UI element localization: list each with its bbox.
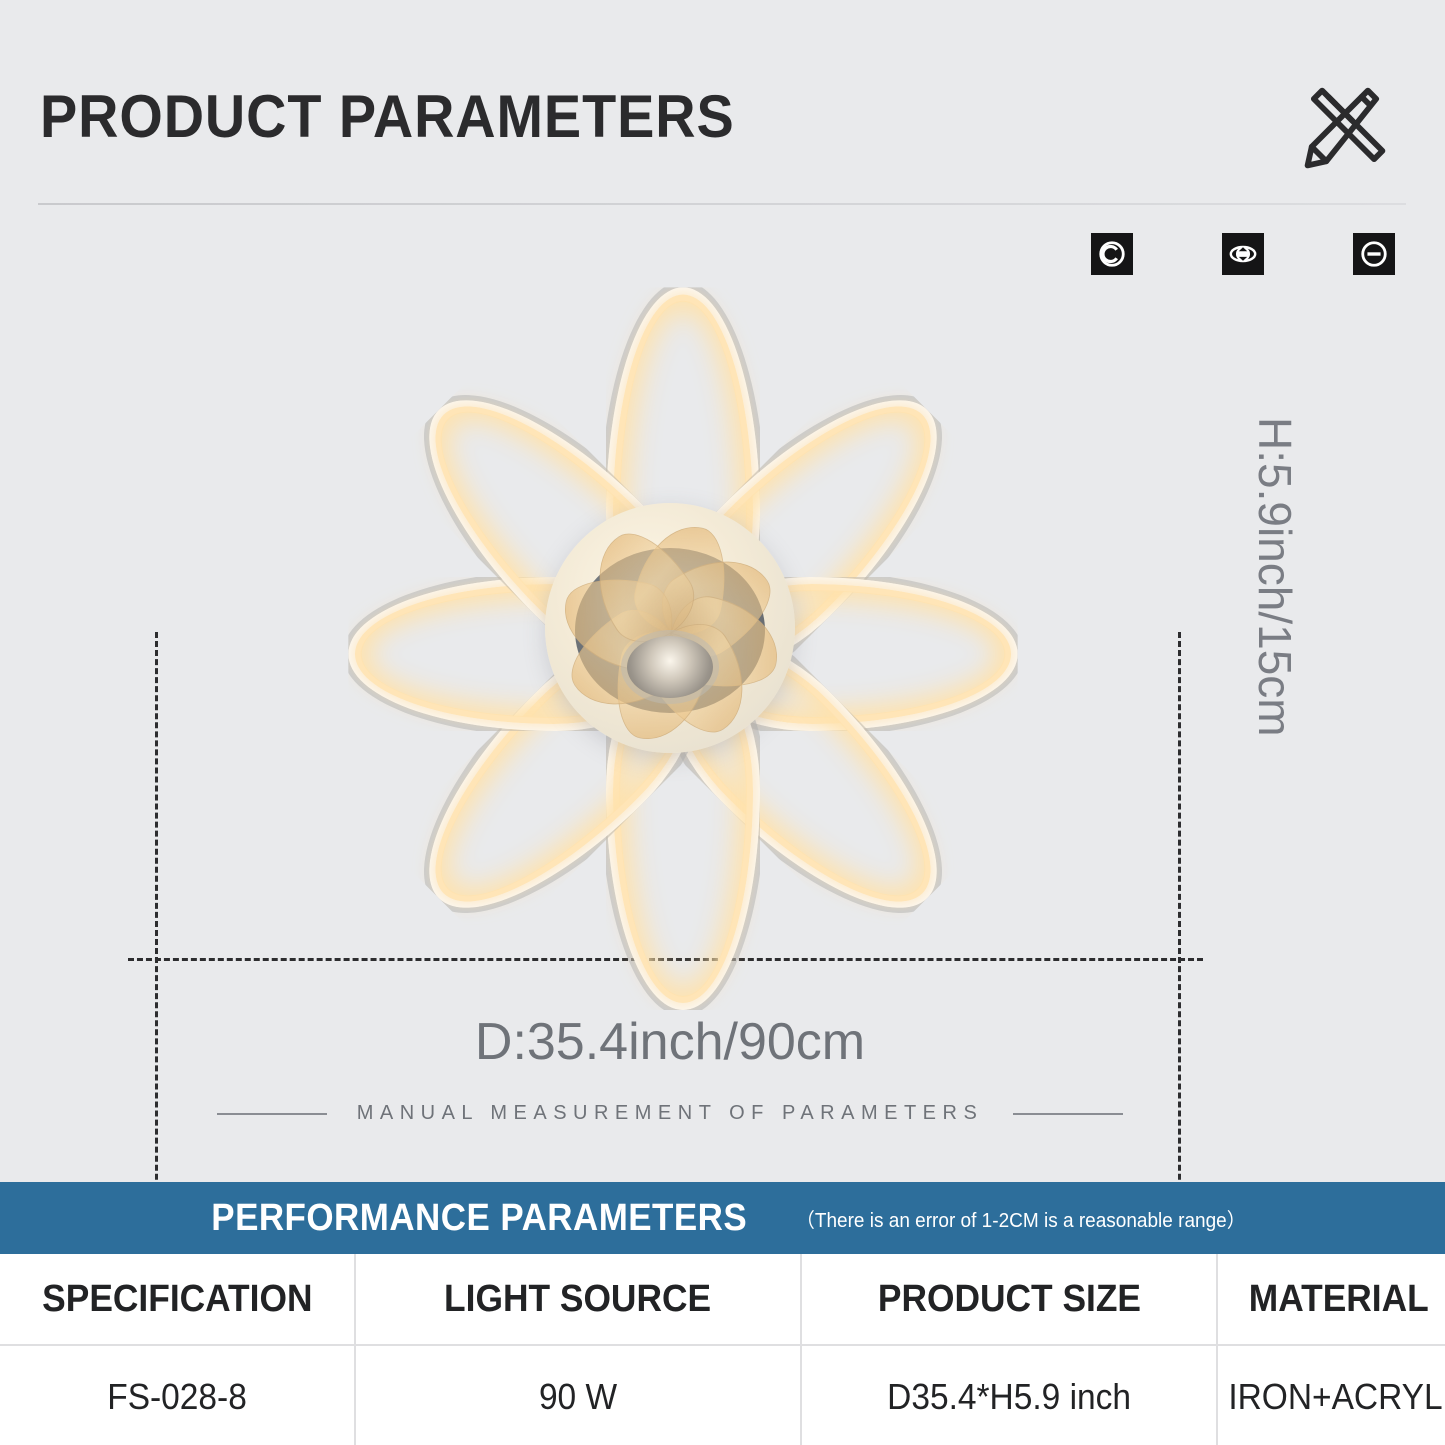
copyright-icon (1097, 239, 1127, 269)
cell-specification: FS-028-8 (0, 1345, 355, 1445)
diameter-dimension-label: D:35.4inch/90cm (0, 1012, 1340, 1072)
table-header-specification: SPECIFICATION (0, 1254, 355, 1345)
table-header-material: MATERIAL (1217, 1254, 1445, 1345)
dimension-guide-left (155, 632, 158, 1252)
product-dimension-area: H:5.9inch/15cm D:35.4inch/90cm MANUAL ME… (0, 290, 1445, 1170)
page-title: PRODUCT PARAMETERS (40, 82, 735, 151)
measurement-caption: MANUAL MEASUREMENT OF PARAMETERS (0, 1102, 1340, 1125)
caption-rule-right (1013, 1113, 1123, 1115)
fan-center-cap (627, 636, 713, 698)
caption-rule-left (217, 1113, 327, 1115)
table-header-product-size: PRODUCT SIZE (801, 1254, 1217, 1345)
caption-text: MANUAL MEASUREMENT OF PARAMETERS (357, 1102, 984, 1125)
performance-banner: PERFORMANCE PARAMETERS （There is an erro… (0, 1182, 1445, 1254)
ruler-pencil-icon (1293, 76, 1397, 180)
page-header: PRODUCT PARAMETERS (0, 0, 1445, 215)
header-divider (38, 203, 1406, 205)
table-header-light-source: LIGHT SOURCE (355, 1254, 801, 1345)
table-header-row: SPECIFICATION LIGHT SOURCE PRODUCT SIZE … (0, 1254, 1445, 1345)
cell-material: IRON+ACRYLIC (1217, 1345, 1445, 1445)
flower-ceiling-fan-light (310, 268, 1030, 988)
minus-circle-badge (1353, 233, 1395, 275)
copyright-badge (1091, 233, 1133, 275)
cell-light-source: 90 W (355, 1345, 801, 1445)
recycle-arrows-icon (1228, 239, 1258, 269)
height-dimension-label: H:5.9inch/15cm (1248, 417, 1302, 537)
product-image (160, 298, 1180, 958)
performance-banner-title: PERFORMANCE PARAMETERS (211, 1197, 747, 1240)
cell-product-size: D35.4*H5.9 inch (801, 1345, 1217, 1445)
table-row: FS-028-8 90 W D35.4*H5.9 inch IRON+ACRYL… (0, 1345, 1445, 1445)
recycle-badge (1222, 233, 1264, 275)
product-parameters-page: PRODUCT PARAMETERS (0, 0, 1445, 1445)
specification-table: SPECIFICATION LIGHT SOURCE PRODUCT SIZE … (0, 1254, 1445, 1445)
minus-circle-icon (1359, 239, 1389, 269)
performance-banner-note: （There is an error of 1-2CM is a reasona… (796, 1204, 1246, 1233)
